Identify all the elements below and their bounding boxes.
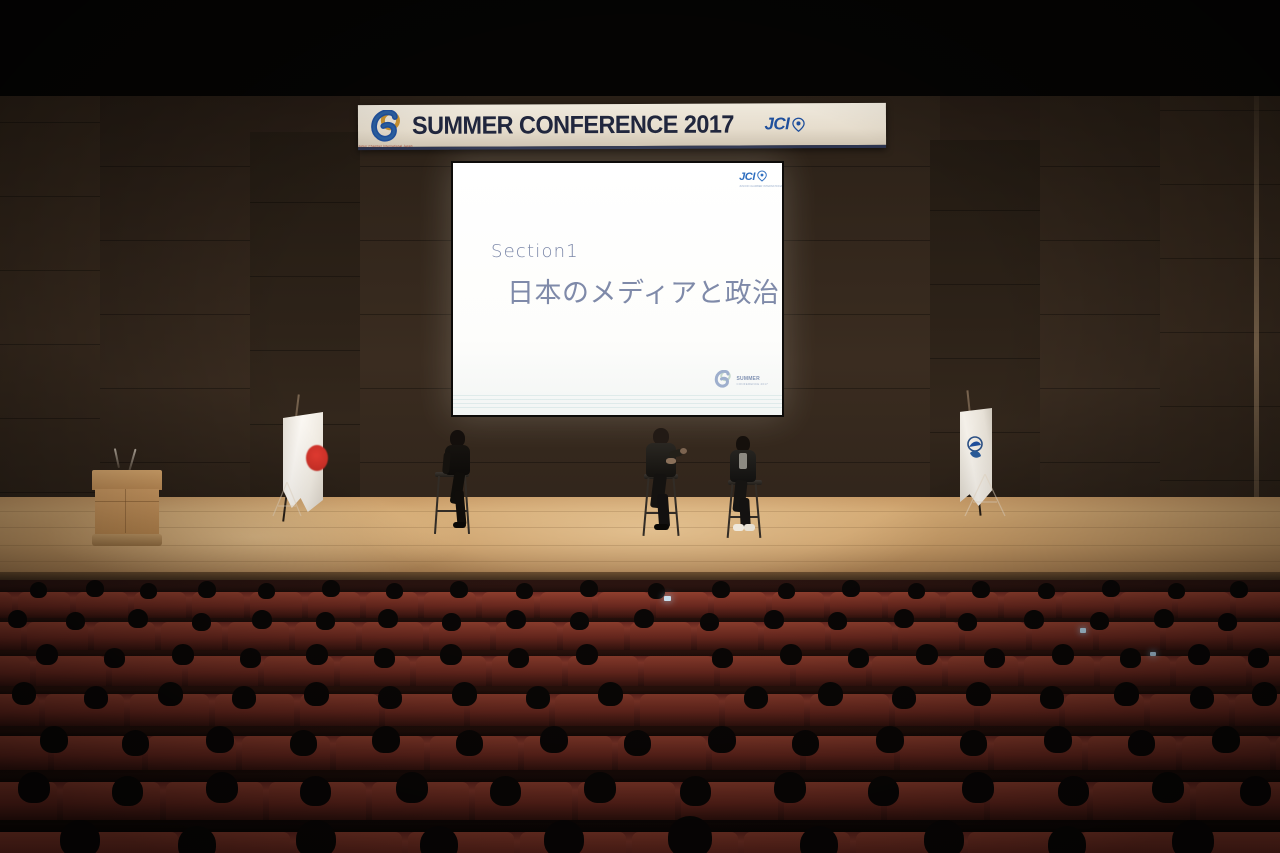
audience-head [774, 772, 806, 803]
audience-head [780, 644, 802, 665]
audience-head [30, 582, 47, 598]
lectern-top [92, 470, 162, 490]
audience-head [1038, 583, 1055, 599]
audience-head [1230, 581, 1248, 598]
conference-photo: SUMMER CONFERENCE 2017 JCI Junior Chambe… [0, 0, 1280, 853]
audience-head [818, 682, 843, 706]
panelist-hand [666, 458, 676, 464]
audience-head [84, 686, 108, 709]
audience-head [18, 772, 50, 803]
audience-head [916, 644, 938, 665]
audience-head [680, 776, 711, 806]
audience-head [1040, 686, 1064, 709]
audience-head [1058, 776, 1089, 806]
audience-head [128, 609, 148, 628]
audience-head [1168, 583, 1185, 599]
audience-head [1024, 610, 1044, 629]
audience-head [1172, 820, 1214, 853]
audience-head [712, 648, 733, 668]
audience-head [708, 726, 736, 753]
jci-emblem-icon [965, 436, 985, 462]
audience-head [12, 682, 36, 705]
audience-head [598, 682, 623, 706]
audience-head [1052, 644, 1074, 665]
audience-head [648, 583, 665, 599]
audience-head [1240, 776, 1271, 806]
audience-head [1190, 686, 1214, 709]
audience-head [490, 776, 521, 806]
audience-head [1048, 826, 1086, 853]
lectern-base [92, 534, 162, 546]
audience-head [206, 772, 238, 803]
audience-head [924, 820, 964, 853]
audience-head [386, 583, 403, 599]
slide-footer-swirl-icon [713, 370, 733, 393]
audience-head [668, 816, 712, 853]
audience-head [876, 726, 904, 753]
audience-head [960, 730, 987, 756]
audience-head [374, 648, 395, 668]
audience-head [828, 612, 847, 630]
audience-head [240, 648, 261, 668]
audience-head [868, 776, 899, 806]
panelist-right [722, 436, 780, 540]
audience-seating [0, 580, 1280, 853]
audience-head [764, 610, 784, 629]
audience-head [40, 726, 68, 753]
audience-head [296, 820, 336, 853]
audience-head [252, 610, 272, 629]
audience-head [540, 726, 568, 753]
panelist-center [636, 428, 700, 538]
audience-head [1120, 648, 1141, 668]
audience-head [420, 826, 458, 853]
audience-head [700, 613, 719, 631]
projection-screen-frame: JCI JUNIOR CHAMBER INTERNATIONAL Section… [451, 161, 784, 417]
audience-head [290, 730, 317, 756]
audience-head [516, 583, 533, 599]
audience-head [86, 580, 104, 597]
audience-head [140, 583, 157, 599]
summer-conference-swirl-icon [368, 110, 404, 142]
audience-head [300, 776, 331, 806]
slide-footer-logo-line2: CONFERENCE 2017 [736, 383, 768, 386]
audience-head [842, 580, 860, 597]
audience-head [178, 826, 216, 853]
audience-head [112, 776, 143, 806]
audience-head [792, 730, 819, 756]
audience-head [158, 682, 183, 706]
jci-logo-banner: JCI Junior Chamber International Japan [764, 114, 805, 134]
audience-head [624, 730, 651, 756]
audience-head [506, 610, 526, 629]
audience-head [712, 581, 730, 598]
audience-head [1252, 682, 1277, 706]
audience-head [452, 682, 477, 706]
audience-head [1128, 730, 1155, 756]
audience-head [962, 772, 994, 803]
audience-head [1212, 726, 1240, 753]
audience-head [192, 613, 211, 631]
audience-head [848, 648, 869, 668]
panelist-left [432, 430, 492, 538]
audience-head [1248, 648, 1269, 668]
audience-head [450, 581, 468, 598]
jci-pin-icon [792, 117, 805, 132]
audience-head [800, 826, 838, 853]
slide-jci-pin-icon [757, 169, 770, 184]
device-glow [1080, 628, 1086, 633]
slide-jci-wordmark: JCI [739, 171, 755, 183]
audience-head [206, 726, 234, 753]
panelist-shoe [453, 522, 466, 528]
audience-head [1102, 580, 1120, 597]
audience-head [508, 648, 529, 668]
slide-section-label: Section1 [491, 241, 579, 262]
audience-head [1152, 772, 1184, 803]
audience-head [892, 686, 916, 709]
audience-head [442, 613, 461, 631]
slide-footer-logo: SUMMER CONFERENCE 2017 [713, 370, 768, 393]
audience-head [908, 583, 925, 599]
flag-japan-sun-disc [306, 445, 328, 471]
flag-stand [961, 474, 1007, 523]
audience-head [306, 644, 328, 665]
audience-head [570, 612, 589, 630]
panelist-shoe-white [733, 524, 744, 531]
audience-head [456, 730, 483, 756]
audience-head [778, 583, 795, 599]
audience-head [526, 686, 550, 709]
jci-subtitle: Junior Chamber International Japan [358, 144, 413, 148]
audience-head [958, 613, 977, 631]
audience-head [576, 644, 598, 665]
audience-head [966, 682, 991, 706]
audience-head [8, 610, 27, 628]
device-glow [664, 596, 671, 601]
audience-head [258, 583, 275, 599]
flag-jci [955, 388, 1025, 530]
slide-jci-logo: JCI JUNIOR CHAMBER INTERNATIONAL [739, 169, 770, 184]
banner-title: SUMMER CONFERENCE 2017 [412, 110, 734, 140]
panelist-shirt [739, 453, 747, 469]
device-glow [1150, 652, 1156, 656]
slide-jci-subtitle: JUNIOR CHAMBER INTERNATIONAL [739, 185, 782, 188]
seat-row [0, 694, 1280, 726]
panelist-shoe [654, 524, 669, 530]
audience-head [1090, 612, 1109, 630]
audience-head [1044, 726, 1072, 753]
audience-head [232, 686, 256, 709]
audience-head [440, 644, 462, 665]
audience-head [544, 820, 584, 853]
audience-head [584, 772, 616, 803]
lectern [92, 470, 162, 548]
audience-head [396, 772, 428, 803]
audience-head [198, 581, 216, 598]
audience-head [634, 609, 654, 628]
audience-head [894, 609, 914, 628]
projection-screen: JCI JUNIOR CHAMBER INTERNATIONAL Section… [453, 163, 782, 415]
audience-head [66, 612, 85, 630]
audience-head [1114, 682, 1139, 706]
slide-heading: 日本のメディアと政治 [507, 271, 780, 310]
audience-head [972, 581, 990, 598]
audience-head [36, 644, 58, 665]
audience-head [1218, 613, 1237, 631]
audience-head [744, 686, 768, 709]
audience-head [316, 612, 335, 630]
audience-head [172, 644, 194, 665]
audience-head [372, 726, 400, 753]
flag-japan [258, 390, 328, 530]
jci-wordmark: JCI [764, 114, 789, 134]
audience-head [1154, 609, 1174, 628]
conference-banner: SUMMER CONFERENCE 2017 JCI Junior Chambe… [358, 103, 886, 150]
audience-head [104, 648, 125, 668]
projector-scanlines [453, 395, 782, 411]
audience-head [984, 648, 1005, 668]
audience-head [378, 686, 402, 709]
audience-head [322, 580, 340, 597]
audience-head [122, 730, 149, 756]
audience-head [1188, 644, 1210, 665]
audience-head [580, 580, 598, 597]
lectern-body [95, 489, 159, 535]
audience-head [60, 820, 100, 853]
panelist-shoe-white [744, 524, 755, 531]
proscenium-masking [0, 0, 1280, 96]
audience-head [304, 682, 329, 706]
audience-head [378, 609, 398, 628]
panelist-hand [680, 448, 687, 454]
flag-stand [270, 482, 304, 518]
